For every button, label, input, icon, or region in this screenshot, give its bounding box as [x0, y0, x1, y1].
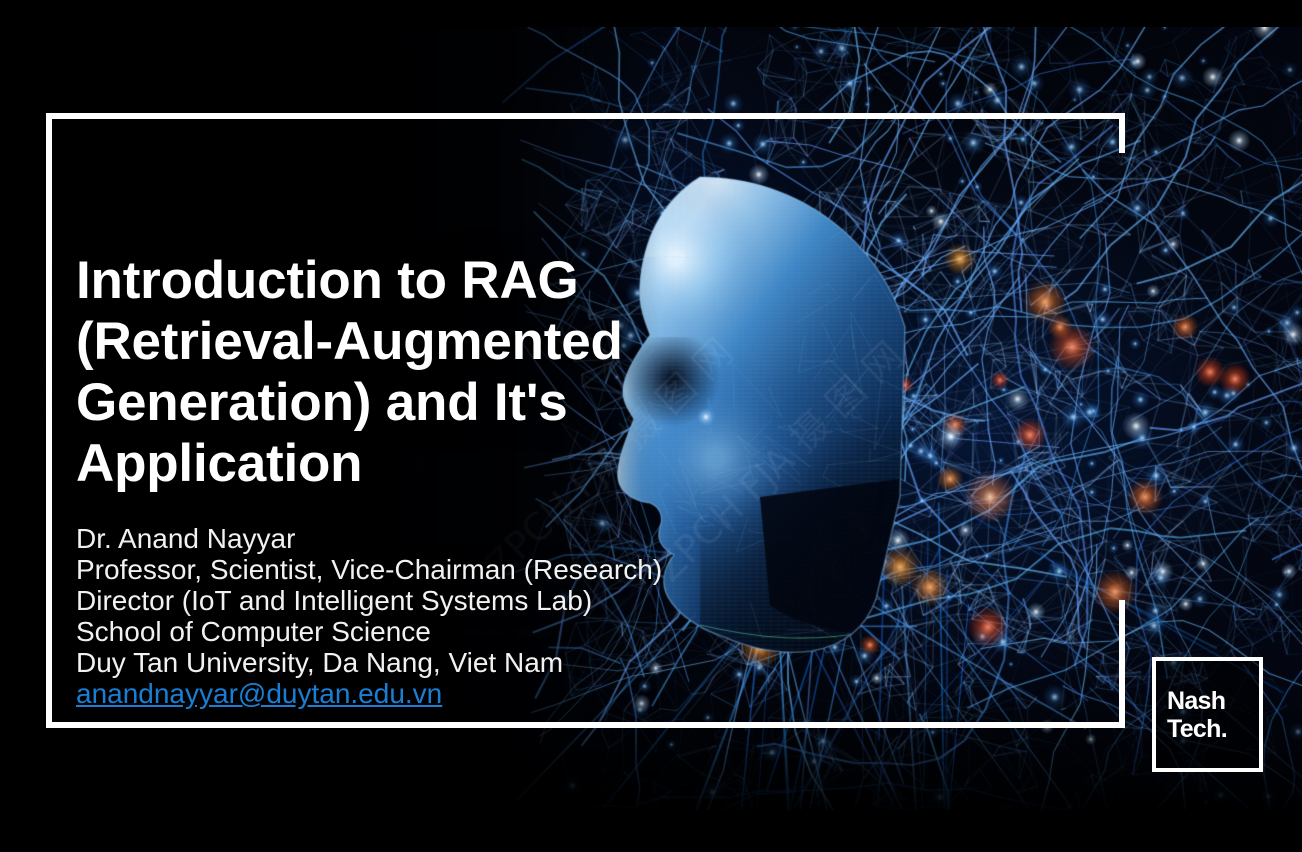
letterbox-bottom [0, 810, 1302, 852]
presenter-name: Dr. Anand Nayyar [76, 523, 662, 554]
frame-left-edge [46, 113, 52, 728]
presenter-school: School of Computer Science [76, 616, 662, 647]
nashtech-logo: Nash Tech. [1152, 657, 1263, 772]
frame-top-edge [46, 113, 1125, 119]
title-slide: Introduction to RAG (Retrieval-Augmented… [0, 0, 1302, 852]
presenter-university: Duy Tan University, Da Nang, Viet Nam [76, 647, 662, 678]
presenter-lab: Director (IoT and Intelligent Systems La… [76, 585, 662, 616]
title-line-4: Application [76, 433, 676, 494]
title-line-1: Introduction to RAG [76, 250, 676, 311]
frame-bottom-edge [46, 722, 1125, 728]
letterbox-top [0, 0, 1302, 27]
presenter-details: Dr. Anand Nayyar Professor, Scientist, V… [76, 523, 662, 709]
logo-line-1: Nash [1167, 687, 1225, 715]
title-line-3: Generation) and It's [76, 372, 676, 433]
title-line-2: (Retrieval-Augmented [76, 311, 676, 372]
frame-right-edge-lower [1119, 600, 1125, 728]
frame-right-edge-upper [1119, 113, 1125, 153]
presenter-role: Professor, Scientist, Vice-Chairman (Res… [76, 554, 662, 585]
presenter-email-link[interactable]: anandnayyar@duytan.edu.vn [76, 678, 662, 709]
slide-title: Introduction to RAG (Retrieval-Augmented… [76, 250, 676, 494]
logo-line-2: Tech. [1167, 715, 1227, 743]
